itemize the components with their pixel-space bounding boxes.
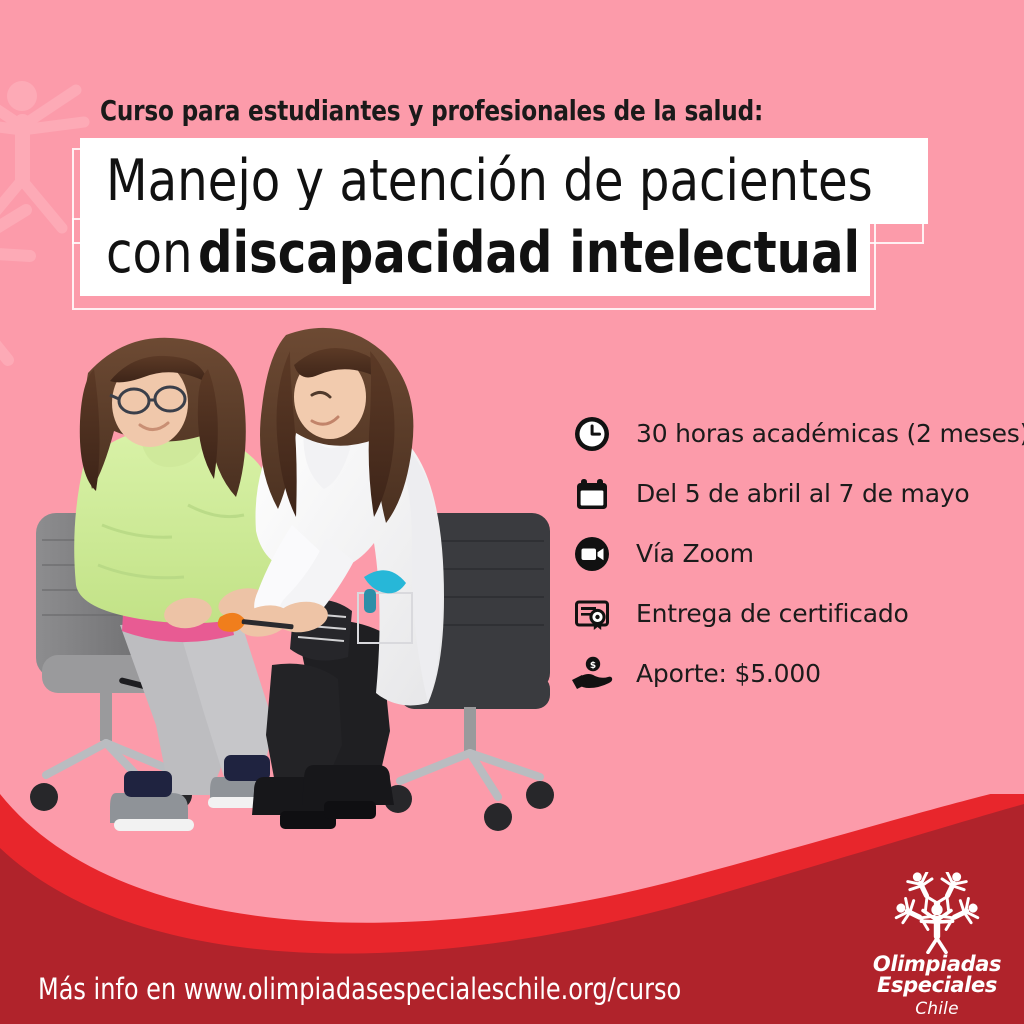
list-item-label: Entrega de certificado: [636, 599, 909, 628]
special-olympics-figures-icon: [887, 872, 987, 954]
logo-line-2: Especiales: [862, 975, 1012, 996]
logo-line-1: Olimpiadas: [862, 954, 1012, 975]
list-item-label: Del 5 de abril al 7 de mayo: [636, 479, 970, 508]
list-item: 30 horas académicas (2 meses): [570, 405, 1020, 462]
title-box-line-2: con discapacidad intelectual: [80, 210, 870, 296]
list-item: $ Aporte: $5.000: [570, 645, 1020, 702]
course-details-list: 30 horas académicas (2 meses) Del 5 de a…: [570, 405, 1020, 705]
list-item-label: 30 horas académicas (2 meses): [636, 419, 1024, 448]
clock-icon: [570, 412, 614, 456]
more-info-url[interactable]: Más info en www.olimpiadasespecialeschil…: [38, 972, 681, 1006]
list-item-label: Vía Zoom: [636, 539, 754, 568]
calendar-icon: [570, 472, 614, 516]
hand-coin-icon: $: [570, 652, 614, 696]
poster-canvas: Curso para estudiantes y profesionales d…: [0, 0, 1024, 1024]
title-line-2-prefix: con: [106, 225, 193, 282]
title-line-2-strong: discapacidad intelectual: [198, 225, 860, 282]
list-item-label: Aporte: $5.000: [636, 659, 821, 688]
list-item: Vía Zoom: [570, 525, 1020, 582]
certificate-icon: [570, 592, 614, 636]
kicker-text: Curso para estudiantes y profesionales d…: [100, 94, 763, 127]
video-camera-icon: [570, 532, 614, 576]
special-olympics-chile-logo: Olimpiadas Especiales Chile: [862, 872, 1012, 1018]
list-item: Del 5 de abril al 7 de mayo: [570, 465, 1020, 522]
title-line-1: Manejo y atención de pacientes: [106, 153, 873, 210]
svg-text:$: $: [590, 661, 596, 671]
list-item: Entrega de certificado: [570, 585, 1020, 642]
logo-line-3: Chile: [862, 999, 1012, 1019]
